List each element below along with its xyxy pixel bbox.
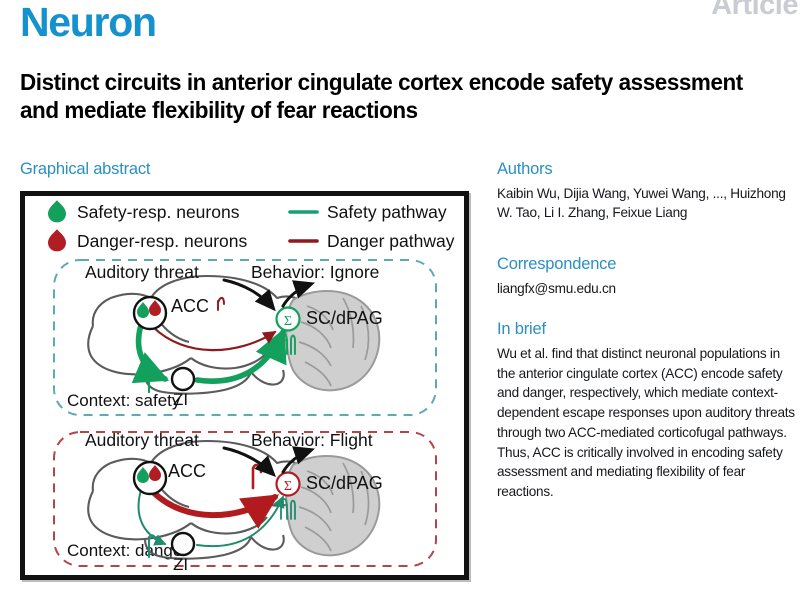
stimulus-label-danger: Auditory threat [85,430,199,450]
region-label-zi: ZI [173,555,188,574]
spike-trace-red-icon [218,298,224,310]
cerebellum-safety [286,291,379,390]
pathway-zi-to-scdpag-safety [197,332,283,381]
legend-item-danger-neurons: Danger-resp. neurons [48,229,247,251]
spike-trace-red-icon [253,465,261,488]
legend-label-danger-neurons: Danger-resp. neurons [77,231,247,251]
region-label-scdpag: SC/dPAG [306,473,383,493]
summation-symbol: Σ [284,479,292,494]
correspondence-email[interactable]: liangfx@smu.edu.cn [497,279,797,298]
page-title: Distinct circuits in anterior cingulate … [20,69,755,125]
authors-heading: Authors [497,160,552,179]
figure-legend: Safety-resp. neurons Danger-resp. neuron… [48,200,455,251]
article-type-kicker: Article [711,0,798,20]
journal-logo: Neuron [20,2,156,43]
figure-canvas: Safety-resp. neurons Danger-resp. neuron… [25,196,464,575]
region-acc-safety: ACC [134,296,209,329]
legend-item-danger-pathway: Danger pathway [290,231,455,251]
legend-item-safety-neurons: Safety-resp. neurons [48,200,240,222]
brain-outline-safety [88,276,307,394]
authors-list: Kaibin Wu, Dijia Wang, Yuwei Wang, ..., … [497,184,797,223]
stimulus-arrow-danger [224,448,273,474]
legend-label-danger-pathway: Danger pathway [327,231,455,251]
in-brief-text: Wu et al. find that distinct neuronal po… [497,344,797,502]
region-label-zi: ZI [173,390,188,409]
summation-symbol: Σ [284,314,292,329]
graphical-abstract-figure: Safety-resp. neurons Danger-resp. neuron… [20,191,469,580]
region-acc-danger: ACC [134,461,206,494]
pathway-acc-to-scdpag-danger-dominant [153,492,275,515]
graphical-abstract-heading: Graphical abstract [20,160,150,179]
behavior-label-safety: Behavior: Ignore [251,262,379,282]
correspondence-heading: Correspondence [497,255,616,274]
pathway-acc-to-scdpag-danger [153,327,275,350]
panel-safety: Context: safety [54,260,436,415]
legend-label-safety-neurons: Safety-resp. neurons [77,202,240,222]
region-label-scdpag: SC/dPAG [306,308,383,328]
cerebellum-danger [286,456,379,555]
behavior-label-danger: Behavior: Flight [251,430,373,450]
stimulus-arrow-safety [224,280,273,308]
panel-danger: Context: danger [54,430,436,574]
in-brief-heading: In brief [497,320,546,339]
stimulus-label-safety: Auditory threat [85,262,199,282]
pathway-zi-to-scdpag-danger [197,497,283,546]
region-label-acc: ACC [168,461,206,481]
region-label-acc: ACC [171,296,209,316]
panel-safety-context-label: Context: safety [67,391,181,410]
soma-green-icon [48,200,66,222]
legend-label-safety-pathway: Safety pathway [327,202,447,222]
soma-red-icon [48,229,66,251]
legend-item-safety-pathway: Safety pathway [290,202,447,222]
